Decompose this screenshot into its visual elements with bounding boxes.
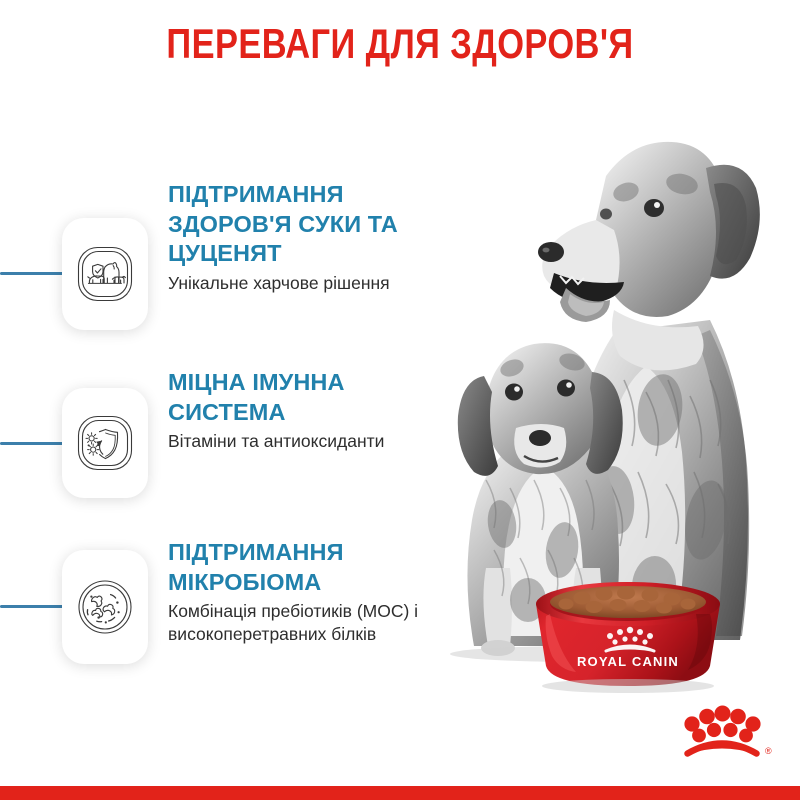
benefit-subtitle-3: Комбінація пребіотиків (МОС) і високопер… [168, 600, 468, 645]
microbiome-bacteria-circle-icon [74, 576, 136, 638]
bottom-red-bar [0, 786, 800, 800]
connector-line-2 [0, 442, 66, 445]
benefit-text-3: ПІДТРИМАННЯ МІКРОБІОМА Комбінація пребіо… [168, 538, 468, 645]
registered-mark: ® [765, 746, 772, 756]
connector-line-1 [0, 272, 66, 275]
benefit-text-1: ПІДТРИМАННЯ ЗДОРОВ'Я СУКИ ТА ЦУЦЕНЯТ Уні… [168, 180, 468, 294]
bowl-brand-text: ROYAL CANIN [577, 654, 679, 669]
crown-dots [684, 706, 760, 743]
benefit-heading-1: ПІДТРИМАННЯ ЗДОРОВ'Я СУКИ ТА ЦУЦЕНЯТ [168, 180, 468, 269]
promo-page: ПЕРЕВАГИ ДЛЯ ЗДОРОВ'Я [0, 0, 800, 800]
benefit-text-2: МІЦНА ІМУННА СИСТЕМА Вітаміни та антиокс… [168, 368, 468, 453]
connector-line-3 [0, 605, 66, 608]
benefit-heading-2: МІЦНА ІМУННА СИСТЕМА [168, 368, 468, 427]
benefit-subtitle-2: Вітаміни та антиоксиданти [168, 430, 468, 452]
benefit-icon-card-2 [62, 388, 148, 498]
benefit-heading-3: ПІДТРИМАННЯ МІКРОБІОМА [168, 538, 468, 597]
royal-canin-dog-bowl: ROYAL CANIN [536, 582, 720, 693]
benefit-icon-card-1 [62, 218, 148, 330]
royal-canin-crown-logo: ® [666, 702, 774, 764]
dog-and-puppies-shield-badge-icon [74, 243, 136, 305]
puppy-figure [458, 343, 623, 656]
benefit-icon-card-3 [62, 550, 148, 664]
page-title: ПЕРЕВАГИ ДЛЯ ЗДОРОВ'Я [72, 22, 728, 66]
immune-shield-germs-badge-icon [74, 412, 136, 474]
bowl-crown-mark [606, 627, 654, 652]
adult-dog-figure [538, 142, 760, 640]
benefit-subtitle-1: Унікальне харчове рішення [168, 272, 468, 294]
dogs-with-bowl-photo: ROYAL CANIN [410, 80, 800, 700]
